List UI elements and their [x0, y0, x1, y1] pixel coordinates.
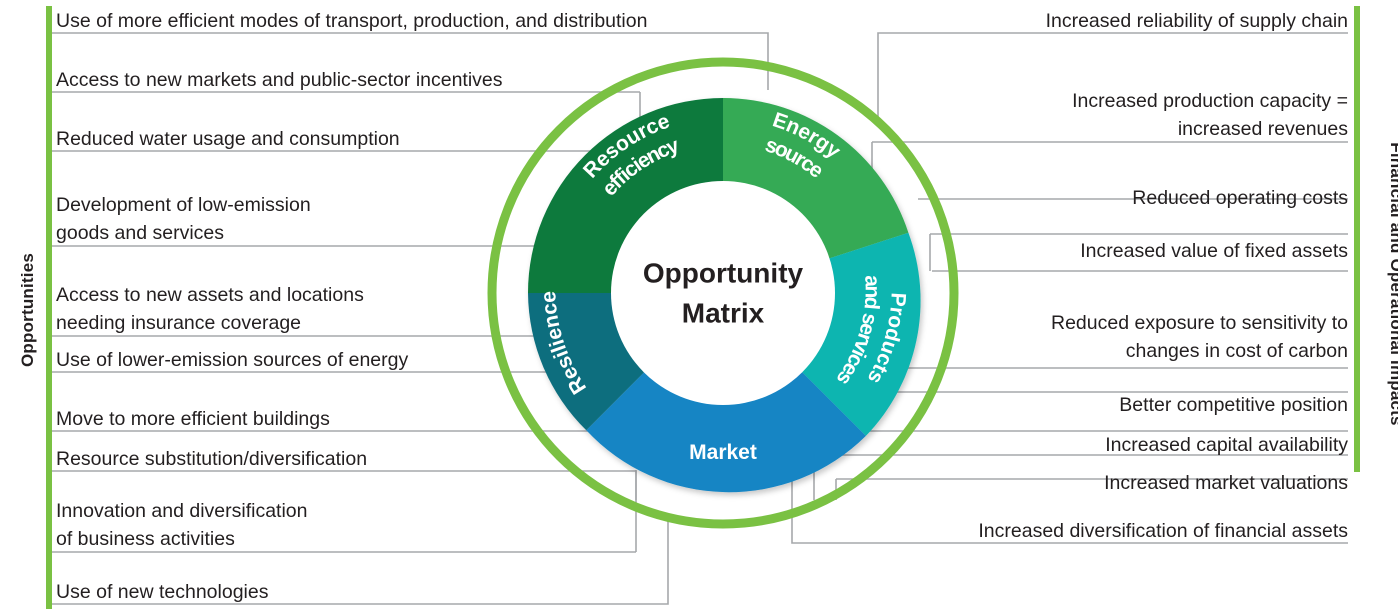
center-title-line1: Opportunity [613, 253, 833, 293]
donut-chart: Resource efficiency Energy source [484, 54, 962, 532]
right-axis-label: Financial and Operational Impacts [1386, 134, 1398, 434]
opportunity-matrix-diagram: Opportunities Financial and Operational … [0, 0, 1398, 615]
center-title-line2: Matrix [613, 293, 833, 333]
right-axis-bar [1354, 6, 1360, 472]
left-axis-label: Opportunities [18, 240, 38, 380]
list-item: Use of new technologies [56, 579, 616, 607]
left-axis-bar [46, 6, 52, 609]
segment-label-market: Market [689, 441, 757, 464]
donut-center-text: Opportunity Matrix [613, 253, 833, 333]
list-item: Increased reliability of supply chain [600, 8, 1348, 36]
